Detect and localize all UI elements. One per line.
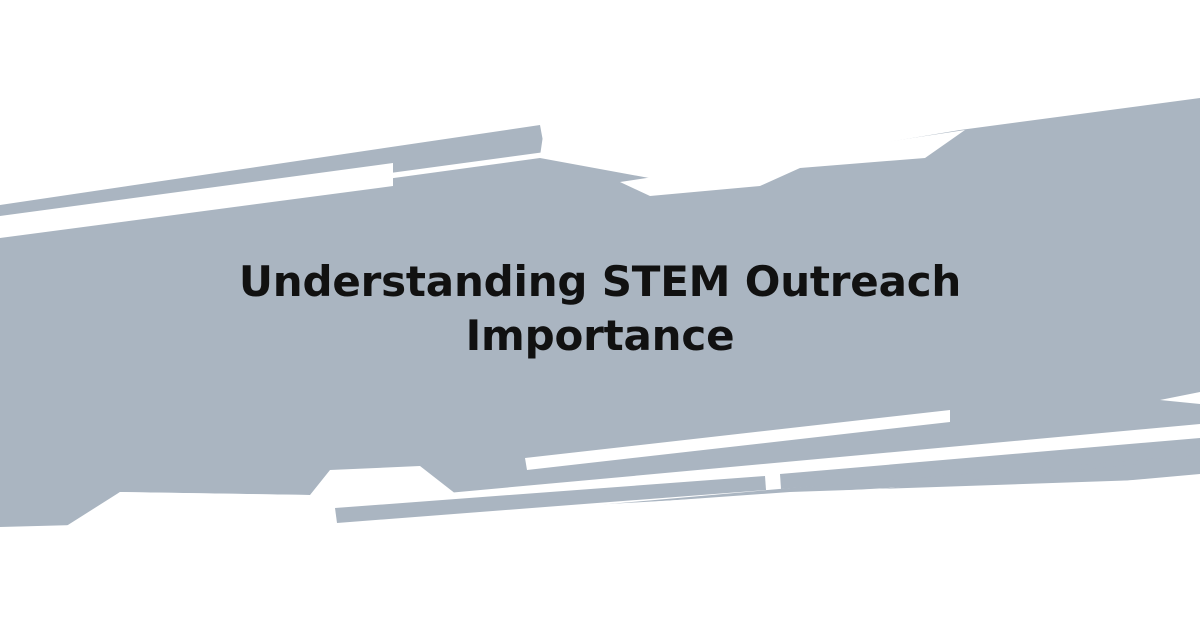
abstract-angular-banner-graphic xyxy=(0,0,1200,630)
banner: Understanding STEM Outreach Importance xyxy=(0,0,1200,630)
